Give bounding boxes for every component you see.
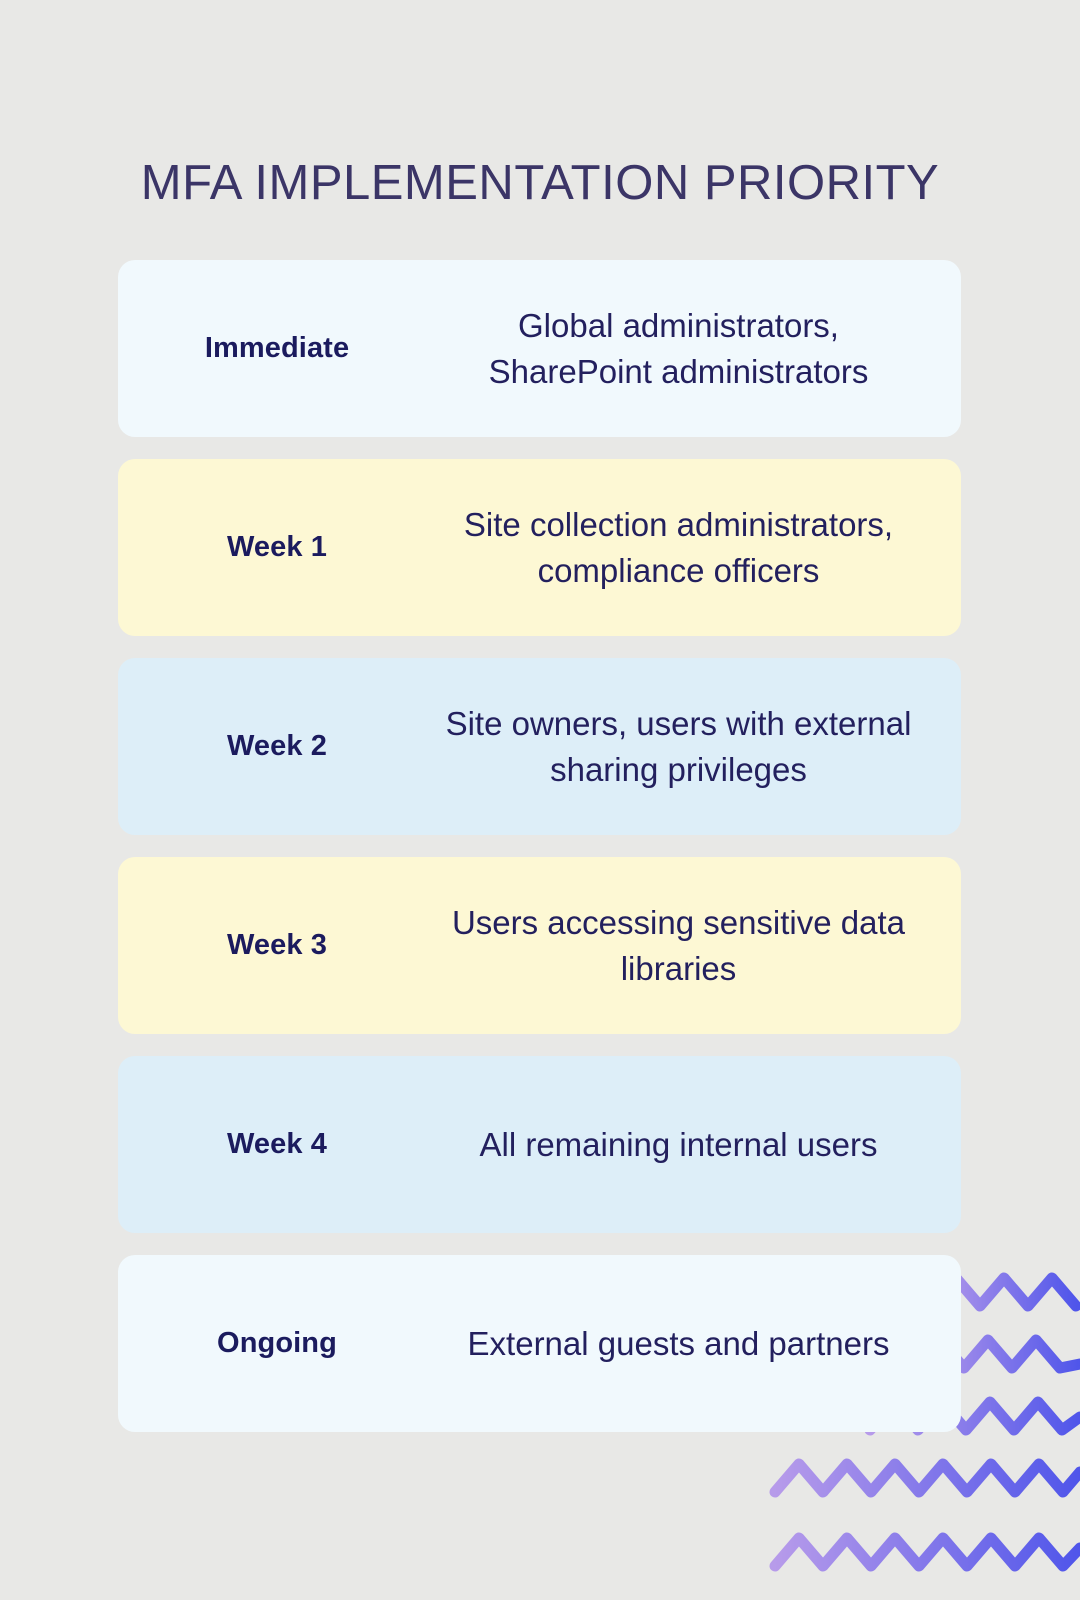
infographic-canvas: MFA IMPLEMENTATION PRIORITY Immediate Gl… (0, 0, 1080, 1600)
phase-description: Users accessing sensitive data libraries (436, 900, 961, 992)
priority-row-week-1[interactable]: Week 1 Site collection administrators, c… (118, 459, 961, 636)
priority-row-immediate[interactable]: Immediate Global administrators, SharePo… (118, 260, 961, 437)
phase-label: Week 1 (118, 530, 436, 565)
priority-row-week-4[interactable]: Week 4 All remaining internal users (118, 1056, 961, 1233)
phase-description: All remaining internal users (436, 1122, 961, 1168)
priority-row-week-2[interactable]: Week 2 Site owners, users with external … (118, 658, 961, 835)
phase-description: Site collection administrators, complian… (436, 502, 961, 594)
priority-row-week-3[interactable]: Week 3 Users accessing sensitive data li… (118, 857, 961, 1034)
phase-label: Week 4 (118, 1127, 436, 1162)
page-title: MFA IMPLEMENTATION PRIORITY (0, 151, 1080, 215)
phase-label: Week 2 (118, 729, 436, 764)
phase-label: Ongoing (118, 1326, 436, 1361)
phase-description: Global administrators, SharePoint admini… (436, 303, 961, 395)
priority-list: Immediate Global administrators, SharePo… (118, 260, 961, 1432)
phase-description: Site owners, users with external sharing… (436, 701, 961, 793)
phase-label: Week 3 (118, 928, 436, 963)
phase-description: External guests and partners (436, 1321, 961, 1367)
priority-row-ongoing[interactable]: Ongoing External guests and partners (118, 1255, 961, 1432)
phase-label: Immediate (118, 331, 436, 366)
